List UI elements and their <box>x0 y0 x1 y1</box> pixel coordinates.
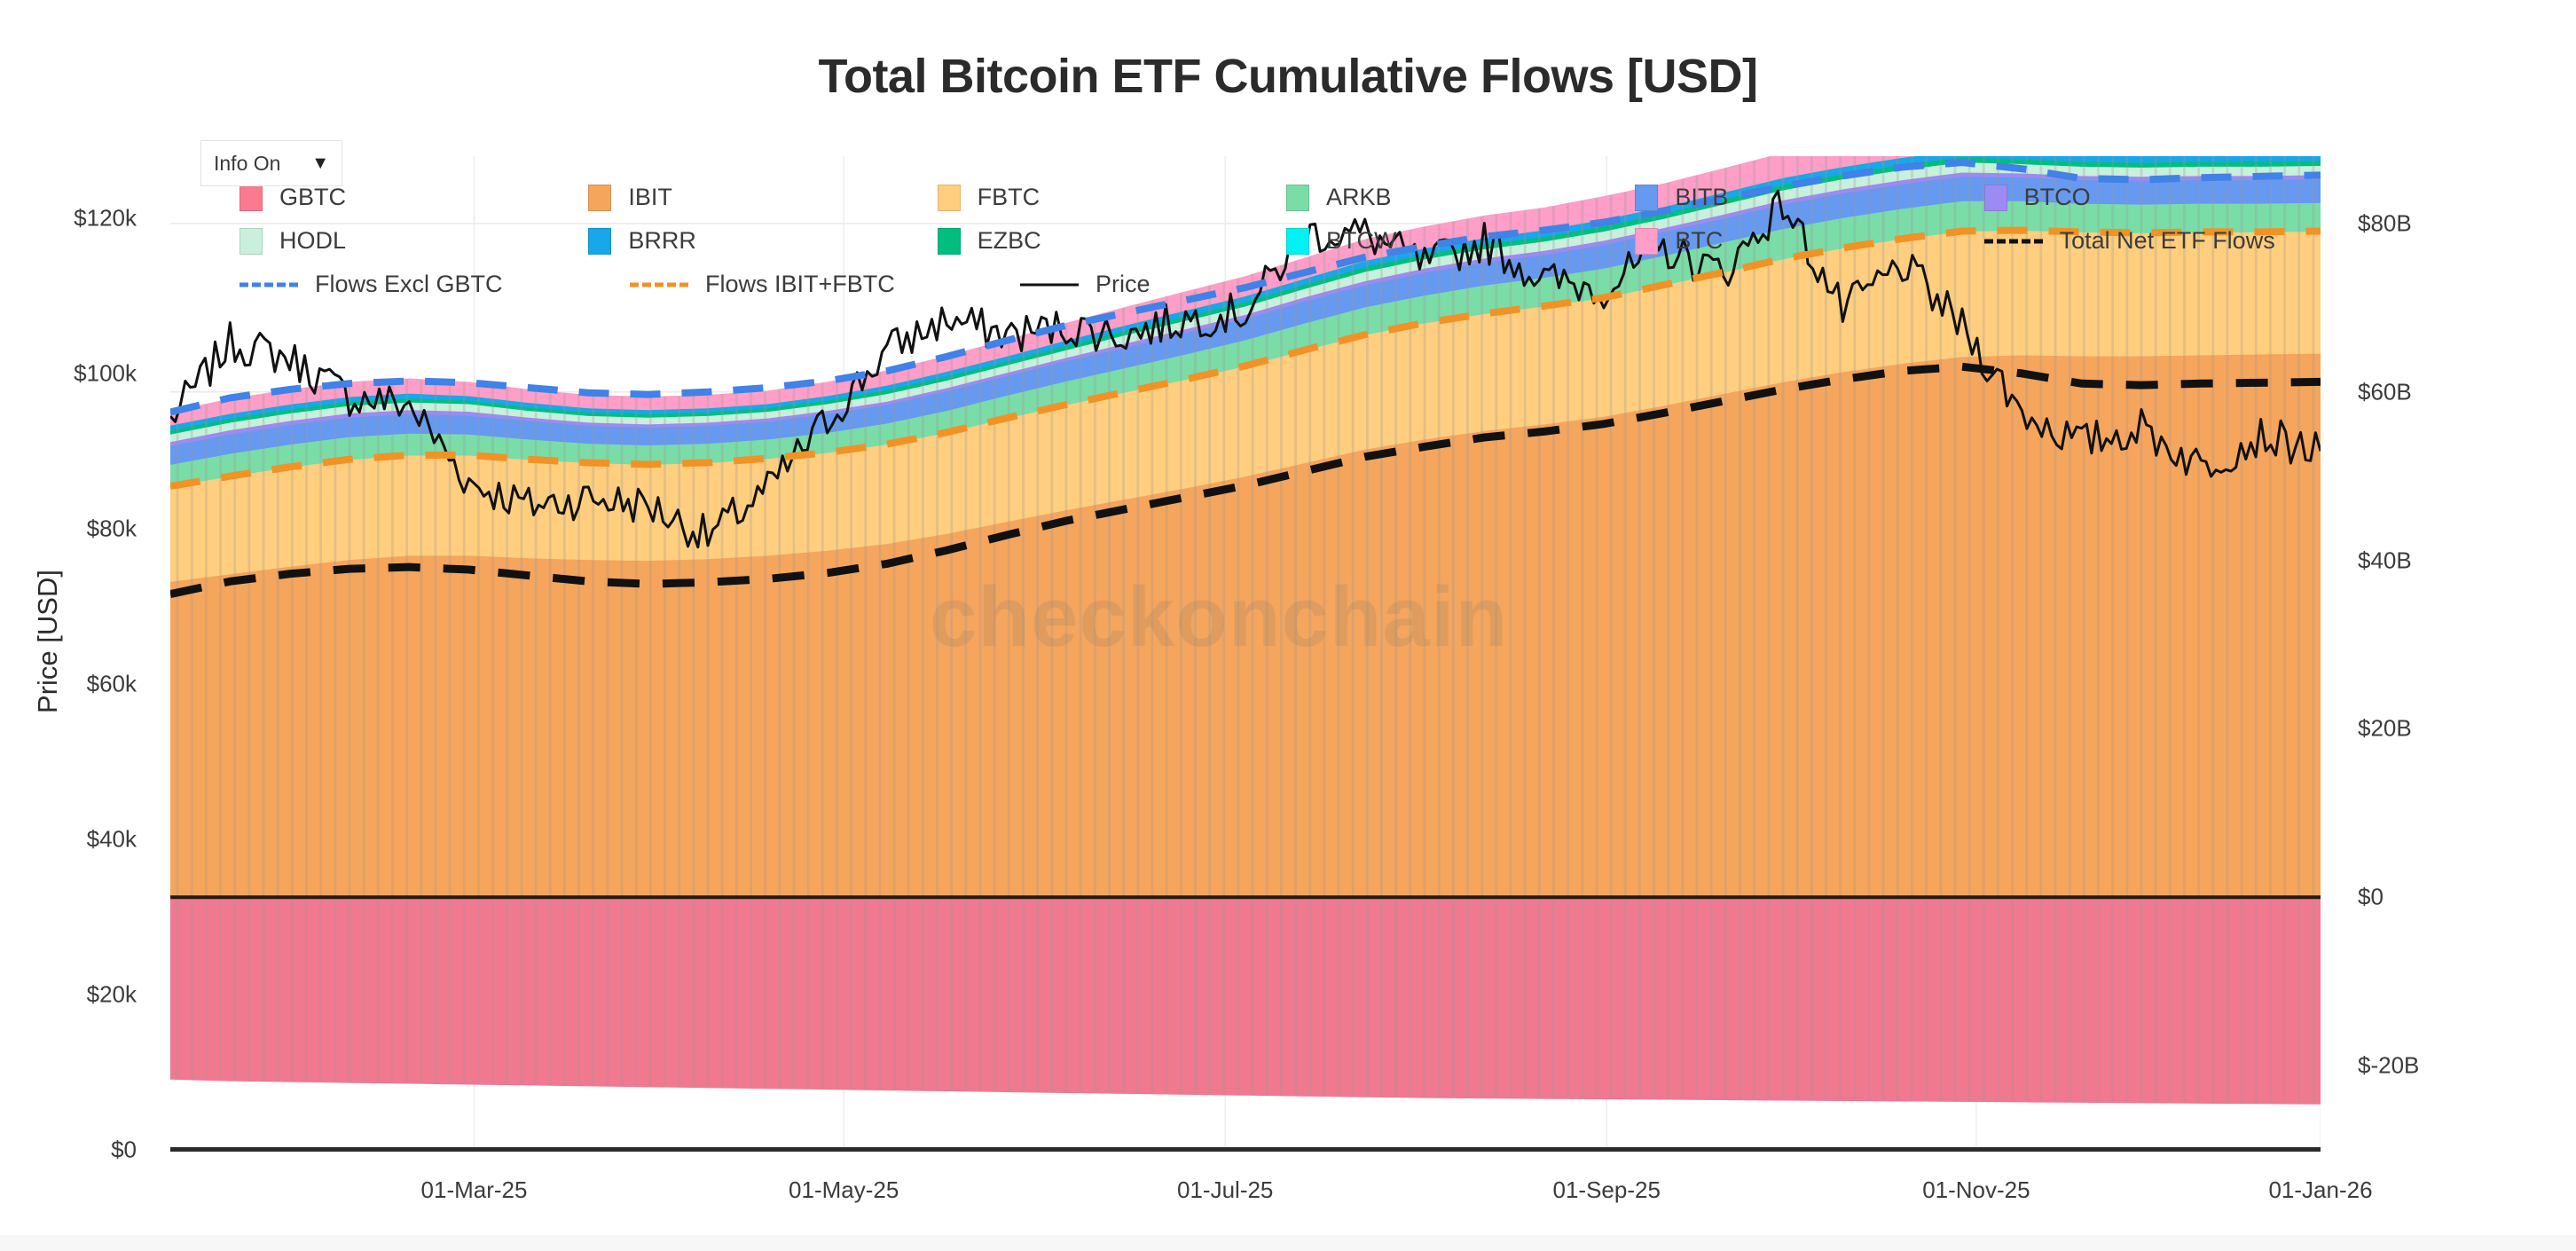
legend-solid-line-icon <box>1020 271 1079 298</box>
x-axis-ticks: 01-Mar-2501-May-2501-Jul-2501-Sep-2501-N… <box>170 1176 2321 1221</box>
y-axis-right-tick: $60B <box>2358 378 2412 405</box>
axis-bottom-rule <box>170 1147 2321 1152</box>
y-axis-left-tick: $20k <box>87 981 137 1009</box>
legend-item-flows-ibit-fbtc[interactable]: Flows IBIT+FBTC <box>630 271 1020 298</box>
legend-swatch-icon <box>938 228 961 255</box>
info-dropdown-label: Info On <box>214 152 280 176</box>
legend-item-btcw[interactable]: BTCW <box>1286 227 1635 255</box>
y-axis-left-tick: $60k <box>87 671 137 698</box>
legend-item-ezbc[interactable]: EZBC <box>938 227 1286 255</box>
legend-item-btc[interactable]: BTC <box>1635 227 1983 255</box>
x-axis-tick: 01-Jul-25 <box>1177 1176 1273 1204</box>
chart-page: Total Bitcoin ETF Cumulative Flows [USD]… <box>0 0 2576 1251</box>
legend-item-label: GBTC <box>279 184 346 211</box>
legend-item-label: BTC <box>1675 227 1723 255</box>
legend-item-label: BTCW <box>1326 227 1396 255</box>
legend-item-ibit[interactable]: IBIT <box>588 184 937 211</box>
legend-swatch-icon <box>240 228 263 255</box>
legend-swatch-icon <box>588 185 611 211</box>
legend-item-bitb[interactable]: BITB <box>1635 184 1983 211</box>
legend-item-label: HODL <box>279 227 346 255</box>
y-axis-left-tick: $100k <box>74 360 137 388</box>
legend-swatch-icon <box>1635 185 1658 211</box>
legend-dashed-line-icon <box>240 271 298 298</box>
legend-item-fbtc[interactable]: FBTC <box>938 184 1286 211</box>
legend-item-label: IBIT <box>628 184 672 211</box>
legend-item-label: Total Net ETF Flows <box>2060 227 2275 255</box>
legend-swatch-icon <box>1286 185 1309 211</box>
legend-swatch-icon <box>240 185 263 211</box>
legend-item-label: FBTC <box>978 184 1041 211</box>
legend-item-flows-excl-gbtc[interactable]: Flows Excl GBTC <box>240 271 630 298</box>
legend-item-label: Flows Excl GBTC <box>315 271 503 298</box>
y-axis-left-label: Price [USD] <box>32 508 64 775</box>
legend-item-brrr[interactable]: BRRR <box>588 227 937 255</box>
legend-item-gbtc[interactable]: GBTC <box>240 184 588 211</box>
y-axis-left-tick: $0 <box>111 1137 137 1164</box>
page-title: Total Bitcoin ETF Cumulative Flows [USD] <box>0 49 2576 104</box>
chevron-down-icon: ▼ <box>311 154 329 172</box>
y-axis-left-ticks: $0$20k$40k$60k$80k$100k$120k <box>0 0 153 1251</box>
y-axis-left-tick: $120k <box>74 205 137 232</box>
legend-item-label: EZBC <box>978 227 1041 255</box>
y-axis-right-tick: $20B <box>2358 715 2412 743</box>
legend-swatch-icon <box>1286 228 1309 255</box>
legend-item-arkb[interactable]: ARKB <box>1286 184 1635 211</box>
legend-item-hodl[interactable]: HODL <box>240 227 588 255</box>
legend-item-total-net-etf-flows[interactable]: Total Net ETF Flows <box>1984 227 2333 255</box>
legend-item-label: ARKB <box>1326 184 1392 211</box>
y-axis-left-tick: $80k <box>87 515 137 543</box>
x-axis-tick: 01-Mar-25 <box>421 1176 528 1204</box>
y-axis-left-tick: $40k <box>87 826 137 854</box>
legend-swatch-icon <box>1984 185 2007 211</box>
legend-item-label: BRRR <box>628 227 696 255</box>
legend-item-label: BTCO <box>2024 184 2091 211</box>
legend-dashed-line-icon <box>1984 228 2043 255</box>
x-axis-tick: 01-Jan-26 <box>2268 1176 2372 1204</box>
legend-item-btco[interactable]: BTCO <box>1984 184 2333 211</box>
legend-item-price[interactable]: Price <box>1020 271 1410 298</box>
legend-swatch-icon <box>1635 228 1658 255</box>
x-axis-tick: 01-Sep-25 <box>1553 1176 1661 1204</box>
page-bottom-strip <box>0 1235 2576 1251</box>
legend-dashed-line-icon <box>630 271 688 298</box>
chart-plot-area: checkonchain <box>170 156 2321 1150</box>
legend-item-label: Price <box>1096 271 1151 298</box>
y-axis-right-tick: $40B <box>2358 547 2412 574</box>
y-axis-right-ticks: $-20B$0$20B$40B$60B$80B <box>2338 0 2516 1251</box>
legend-item-label: BITB <box>1675 184 1728 211</box>
legend-swatch-icon <box>938 185 961 211</box>
info-dropdown[interactable]: Info On ▼ <box>200 140 342 186</box>
chart-svg <box>170 156 2321 1150</box>
x-axis-tick: 01-Nov-25 <box>1922 1176 2030 1204</box>
legend-item-label: Flows IBIT+FBTC <box>705 271 895 298</box>
y-axis-right-tick: $-20B <box>2358 1052 2419 1080</box>
x-axis-tick: 01-May-25 <box>789 1176 899 1204</box>
y-axis-right-tick: $0 <box>2358 884 2384 911</box>
y-axis-right-tick: $80B <box>2358 209 2412 237</box>
legend-swatch-icon <box>588 228 611 255</box>
